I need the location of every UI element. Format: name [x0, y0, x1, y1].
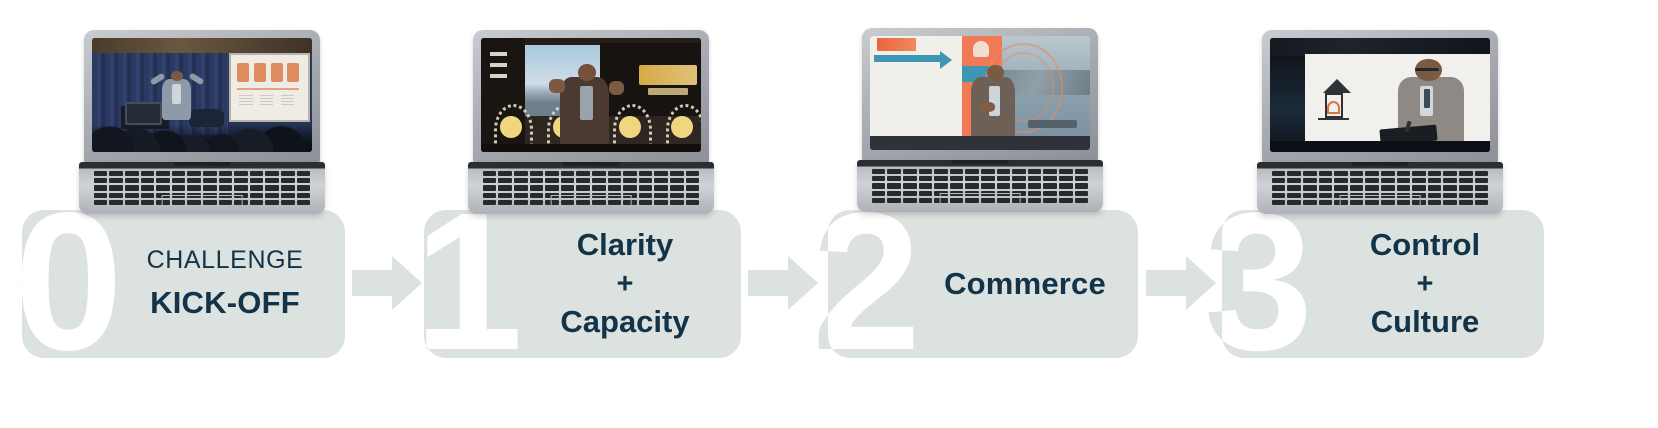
keyboard-key	[639, 193, 653, 198]
keyboard-key	[1028, 169, 1042, 174]
keyboard-key	[203, 185, 217, 190]
keyboard-key	[234, 185, 248, 190]
keyboard-key	[1028, 191, 1042, 196]
keyboard-key	[109, 178, 123, 183]
keyboard-key	[654, 171, 668, 176]
dock	[1028, 120, 1076, 128]
keyboard-key	[514, 200, 528, 205]
keyboard-key	[1287, 178, 1301, 183]
keyboard-key	[156, 185, 170, 190]
keyboard-key	[1272, 185, 1286, 190]
laptop-notch	[562, 162, 620, 166]
keyboard-key	[1319, 193, 1333, 198]
keyboard-key	[903, 183, 917, 188]
keyboard-key	[950, 183, 964, 188]
keyboard-key	[887, 183, 901, 188]
keyboard-key	[514, 171, 528, 176]
keyboard-key	[1475, 178, 1489, 183]
keyboard-key	[1350, 185, 1364, 190]
keyboard-key	[1475, 171, 1489, 176]
keyboard-key	[1303, 178, 1317, 183]
keyboard-key	[156, 171, 170, 176]
keyboard-key	[592, 178, 606, 183]
keyboard-key	[1459, 200, 1473, 205]
keyboard-key	[545, 185, 559, 190]
keyboard-key	[950, 169, 964, 174]
keyboard-key	[1397, 185, 1411, 190]
laptop-lid	[862, 28, 1098, 162]
keyboard-key	[950, 176, 964, 181]
keyboard-key	[1443, 171, 1457, 176]
stage-card-3[interactable]: 3	[1222, 210, 1544, 358]
keyboard-row	[872, 183, 1089, 188]
keyboard-key	[265, 200, 279, 205]
keyboard-key	[141, 171, 155, 176]
keyboard-key	[887, 169, 901, 174]
keyboard-key	[187, 171, 201, 176]
laptop-screen-thumbnail[interactable]	[1270, 38, 1490, 152]
keyboard-key	[250, 171, 264, 176]
keyboard-key	[281, 200, 295, 205]
left-wall	[1270, 56, 1305, 152]
keyboard-key	[872, 176, 886, 181]
stage-numeral-2: 2	[828, 210, 921, 357]
keyboard-key	[498, 178, 512, 183]
keyboard-key	[1412, 178, 1426, 183]
keyboard-key	[686, 171, 700, 176]
keyboard-key	[887, 198, 901, 203]
keyboard-key	[297, 193, 311, 198]
keyboard-key	[156, 178, 170, 183]
keyboard-key	[639, 178, 653, 183]
keyboard-key	[1075, 169, 1089, 174]
keyboard-key	[1075, 176, 1089, 181]
keyboard-key	[265, 185, 279, 190]
keyboard-key	[919, 169, 933, 174]
keyboard-key	[1319, 178, 1333, 183]
keyboard-key	[997, 183, 1011, 188]
keyboard-key	[1075, 183, 1089, 188]
keyboard-key	[965, 169, 979, 174]
keyboard-key	[981, 176, 995, 181]
keyboard-key	[1319, 200, 1333, 205]
keyboard-key	[872, 183, 886, 188]
keyboard-key	[919, 198, 933, 203]
keyboard-key	[203, 178, 217, 183]
laptop-screen-thumbnail[interactable]	[92, 38, 312, 152]
keyboard-key	[530, 178, 544, 183]
floor	[870, 136, 1090, 150]
keyboard-key	[1043, 191, 1057, 196]
keyboard-key	[670, 185, 684, 190]
keyboard-key	[1459, 185, 1473, 190]
keyboard-key	[498, 193, 512, 198]
keyboard-key	[498, 185, 512, 190]
keyboard-key	[250, 193, 264, 198]
keyboard-key	[514, 178, 528, 183]
keyboard-key	[1412, 171, 1426, 176]
keyboard-key	[1043, 198, 1057, 203]
keyboard-key	[872, 198, 886, 203]
keyboard-key	[654, 193, 668, 198]
keyboard-key	[670, 200, 684, 205]
keyboard-key	[1412, 185, 1426, 190]
keyboard-key	[654, 178, 668, 183]
keyboard-key	[219, 178, 233, 183]
keyboard-key	[234, 178, 248, 183]
keyboard-key	[934, 183, 948, 188]
keyboard-key	[670, 193, 684, 198]
stage-card-0[interactable]: 0	[22, 210, 345, 358]
slide-footnote	[239, 95, 252, 105]
keyboard-key	[1381, 185, 1395, 190]
keyboard-key	[1334, 185, 1348, 190]
house-drawing-base	[1318, 118, 1349, 120]
keyboard-key	[1319, 185, 1333, 190]
keyboard-key	[934, 169, 948, 174]
keyboard-key	[608, 185, 622, 190]
keyboard-key	[903, 176, 917, 181]
keyboard-key	[141, 193, 155, 198]
keyboard-key	[281, 193, 295, 198]
keyboard-key	[483, 200, 497, 205]
keyboard-key	[530, 171, 544, 176]
keyboard-key	[576, 178, 590, 183]
keyboard-key	[1287, 193, 1301, 198]
flow-arrow-icon	[1146, 256, 1218, 310]
keyboard-row	[1272, 171, 1489, 176]
keyboard-key	[125, 193, 139, 198]
keyboard-row	[94, 185, 311, 190]
audience-silhouettes	[92, 125, 312, 152]
keyboard-key	[219, 171, 233, 176]
keyboard-key	[141, 178, 155, 183]
keyboard-key	[483, 193, 497, 198]
keyboard-key	[686, 178, 700, 183]
keyboard-key	[1381, 171, 1395, 176]
laptop-screen-thumbnail[interactable]	[870, 36, 1090, 150]
keyboard-key	[125, 171, 139, 176]
speaker-hand-left	[549, 79, 564, 93]
keyboard-key	[1350, 171, 1364, 176]
keyboard-key	[639, 185, 653, 190]
laptop-base	[79, 162, 325, 214]
keyboard-key	[297, 171, 311, 176]
keyboard-key	[109, 200, 123, 205]
monitor-screen	[125, 102, 162, 125]
keyboard-key	[670, 178, 684, 183]
keyboard-row	[94, 171, 311, 176]
keyboard-key	[94, 185, 108, 190]
keyboard-key	[576, 171, 590, 176]
laptop-base	[857, 160, 1103, 212]
keyboard-key	[997, 176, 1011, 181]
keyboard-key	[686, 185, 700, 190]
keyboard-key	[1443, 185, 1457, 190]
keyboard-key	[94, 171, 108, 176]
speaker-shirt	[172, 84, 181, 105]
keyboard-key	[530, 193, 544, 198]
keyboard-key	[545, 171, 559, 176]
keyboard-key	[109, 171, 123, 176]
keyboard-key	[1428, 185, 1442, 190]
keyboard-key	[141, 200, 155, 205]
sign-business	[639, 65, 696, 84]
keyboard-key	[903, 169, 917, 174]
sign-freedom	[648, 88, 688, 95]
keyboard-key	[639, 171, 653, 176]
laptop-trackpad	[551, 195, 632, 212]
slide-figure-icon	[973, 41, 988, 57]
keyboard-key	[1475, 193, 1489, 198]
keyboard-key	[1059, 191, 1073, 196]
keyboard-row	[483, 185, 700, 190]
keyboard-key	[109, 193, 123, 198]
keyboard-key	[125, 185, 139, 190]
keyboard-key	[1428, 171, 1442, 176]
laptop-screen-thumbnail[interactable]	[481, 38, 701, 152]
keyboard-key	[623, 185, 637, 190]
floor	[481, 144, 701, 152]
slide-card	[254, 63, 266, 82]
keyboard-key	[1365, 178, 1379, 183]
keyboard-key	[639, 200, 653, 205]
keyboard-key	[608, 178, 622, 183]
keyboard-key	[514, 185, 528, 190]
keyboard-key	[1397, 178, 1411, 183]
flow-arrow-icon	[748, 256, 820, 310]
speaker-head	[171, 71, 182, 81]
keyboard-key	[187, 178, 201, 183]
keyboard-key	[1059, 176, 1073, 181]
stage-card-2[interactable]: 2	[828, 210, 1138, 358]
arrow-shaft	[352, 270, 396, 296]
keyboard-key	[561, 185, 575, 190]
keyboard-key	[265, 178, 279, 183]
laptop-lid	[473, 30, 709, 164]
keyboard-key	[1303, 171, 1317, 176]
keyboard-key	[919, 183, 933, 188]
keyboard-key	[1334, 171, 1348, 176]
keyboard-key	[1028, 198, 1042, 203]
keyboard-key	[94, 193, 108, 198]
speaker-glasses	[1415, 68, 1439, 71]
stage-numeral-3: 3	[1222, 210, 1313, 357]
slide-card	[287, 63, 299, 82]
speaker-hand-right	[609, 81, 624, 95]
keyboard-row	[872, 176, 1089, 181]
keyboard-key	[561, 171, 575, 176]
keyboard-key	[530, 185, 544, 190]
keyboard-key	[1443, 178, 1457, 183]
keyboard-key	[1459, 171, 1473, 176]
keyboard-key	[670, 171, 684, 176]
laptop-notch	[1351, 162, 1409, 166]
keyboard-key	[250, 178, 264, 183]
keyboard-key	[125, 200, 139, 205]
keyboard-row	[94, 178, 311, 183]
keyboard-key	[281, 185, 295, 190]
arrow-shaft	[1146, 270, 1190, 296]
ceiling-beam	[92, 38, 312, 54]
keyboard-key	[1059, 198, 1073, 203]
keyboard-key	[1428, 178, 1442, 183]
keyboard-key	[483, 171, 497, 176]
keyboard-key	[265, 193, 279, 198]
keyboard-key	[1012, 183, 1026, 188]
keyboard-key	[1043, 169, 1057, 174]
keyboard-key	[483, 178, 497, 183]
keyboard-key	[1075, 198, 1089, 203]
keyboard-key	[1043, 183, 1057, 188]
keyboard-key	[1365, 185, 1379, 190]
keyboard-key	[141, 185, 155, 190]
slide-arrow-shaft	[874, 55, 944, 62]
speaker-hand	[980, 102, 995, 112]
keyboard-key	[172, 178, 186, 183]
keyboard-key	[250, 200, 264, 205]
arrow-shaft	[748, 270, 792, 296]
keyboard-key	[498, 200, 512, 205]
flow-arrow-icon	[352, 256, 424, 310]
keyboard-key	[1028, 176, 1042, 181]
keyboard-key	[187, 185, 201, 190]
laptop-trackpad	[162, 195, 243, 212]
laptop-notch	[173, 162, 231, 166]
keyboard-key	[250, 185, 264, 190]
laptop-mockup-3	[1262, 30, 1498, 215]
keyboard-key	[125, 178, 139, 183]
keyboard-key	[1272, 178, 1286, 183]
keyboard-key	[1350, 178, 1364, 183]
keyboard-key	[872, 169, 886, 174]
keyboard-key	[576, 185, 590, 190]
keyboard-key	[1272, 200, 1286, 205]
keyboard-key	[981, 169, 995, 174]
keyboard-key	[623, 178, 637, 183]
slide-ceo-text	[877, 38, 917, 51]
keyboard-key	[1365, 171, 1379, 176]
keyboard-key	[1043, 176, 1057, 181]
keyboard-key	[94, 178, 108, 183]
laptop-mockup-2	[862, 28, 1098, 213]
process-flow-diagram: 00CHALLENGEKICK-OFF11Clarity+Capacity22C…	[0, 0, 1658, 428]
keyboard-key	[1334, 178, 1348, 183]
laptop-notch	[951, 160, 1009, 164]
keyboard-key	[297, 200, 311, 205]
keyboard-key	[686, 200, 700, 205]
keyboard-key	[94, 200, 108, 205]
marquee-bulb-0	[500, 116, 522, 139]
keyboard-key	[1443, 200, 1457, 205]
slide-arrow-head	[940, 51, 952, 69]
keyboard-key	[1459, 193, 1473, 198]
keyboard-key	[654, 200, 668, 205]
keyboard-key	[903, 198, 917, 203]
keyboard-key	[281, 178, 295, 183]
keyboard-key	[1397, 171, 1411, 176]
stage-numeral-1: 1	[424, 210, 523, 357]
keyboard-key	[1428, 193, 1442, 198]
keyboard-key	[498, 171, 512, 176]
keyboard-key	[623, 171, 637, 176]
keyboard-key	[1459, 178, 1473, 183]
keyboard-key	[981, 183, 995, 188]
keyboard-key	[919, 176, 933, 181]
slide-band	[237, 88, 299, 90]
keyboard-key	[1287, 171, 1301, 176]
keyboard-key	[1272, 171, 1286, 176]
keyboard-key	[887, 176, 901, 181]
slide-footnote	[260, 95, 273, 105]
keyboard-row	[1272, 178, 1489, 183]
stage-card-1[interactable]: 1	[424, 210, 741, 358]
stage-numeral-0: 0	[22, 210, 123, 357]
keyboard-key	[483, 185, 497, 190]
keyboard-key	[997, 169, 1011, 174]
laptop-base	[1257, 162, 1503, 214]
marquee-bulb-2	[619, 116, 641, 139]
keyboard-key	[265, 171, 279, 176]
slide-footnote	[281, 95, 294, 105]
keyboard-key	[1475, 185, 1489, 190]
arrow-head	[392, 256, 422, 310]
keyboard-key	[965, 176, 979, 181]
laptop-trackpad	[1340, 195, 1421, 212]
keyboard-row	[483, 171, 700, 176]
laptop-mockup-1	[473, 30, 709, 215]
keyboard-key	[281, 171, 295, 176]
keyboard-key	[561, 178, 575, 183]
keyboard-key	[592, 185, 606, 190]
floor	[1270, 141, 1490, 152]
keyboard-key	[1287, 200, 1301, 205]
keyboard-key	[1028, 183, 1042, 188]
keyboard-key	[1287, 185, 1301, 190]
keyboard-key	[172, 171, 186, 176]
laptop-trackpad	[940, 193, 1021, 210]
keyboard-key	[1303, 193, 1317, 198]
arrow-head	[788, 256, 818, 310]
keyboard-key	[872, 191, 886, 196]
laptop-lid	[84, 30, 320, 164]
arrow-head	[1186, 256, 1216, 310]
keyboard-key	[172, 185, 186, 190]
keyboard-key	[297, 185, 311, 190]
keyboard-key	[903, 191, 917, 196]
slide-card	[271, 63, 283, 82]
keyboard-key	[965, 183, 979, 188]
keyboard-key	[1272, 193, 1286, 198]
keyboard-key	[203, 171, 217, 176]
laptop-base	[468, 162, 714, 214]
keyboard-key	[1012, 176, 1026, 181]
keyboard-key	[1443, 193, 1457, 198]
speaker-shirt	[580, 86, 593, 120]
keyboard-key	[887, 191, 901, 196]
keyboard-row	[872, 169, 1089, 174]
house-drawing-accent	[1327, 101, 1340, 115]
keyboard-key	[1428, 200, 1442, 205]
laptop-mockup-0	[84, 30, 320, 215]
keyboard-key	[686, 193, 700, 198]
keyboard-key	[1475, 200, 1489, 205]
keyboard-row	[483, 178, 700, 183]
keyboard-key	[592, 171, 606, 176]
keyboard-key	[530, 200, 544, 205]
keyboard-key	[1303, 185, 1317, 190]
keyboard-key	[1012, 169, 1026, 174]
